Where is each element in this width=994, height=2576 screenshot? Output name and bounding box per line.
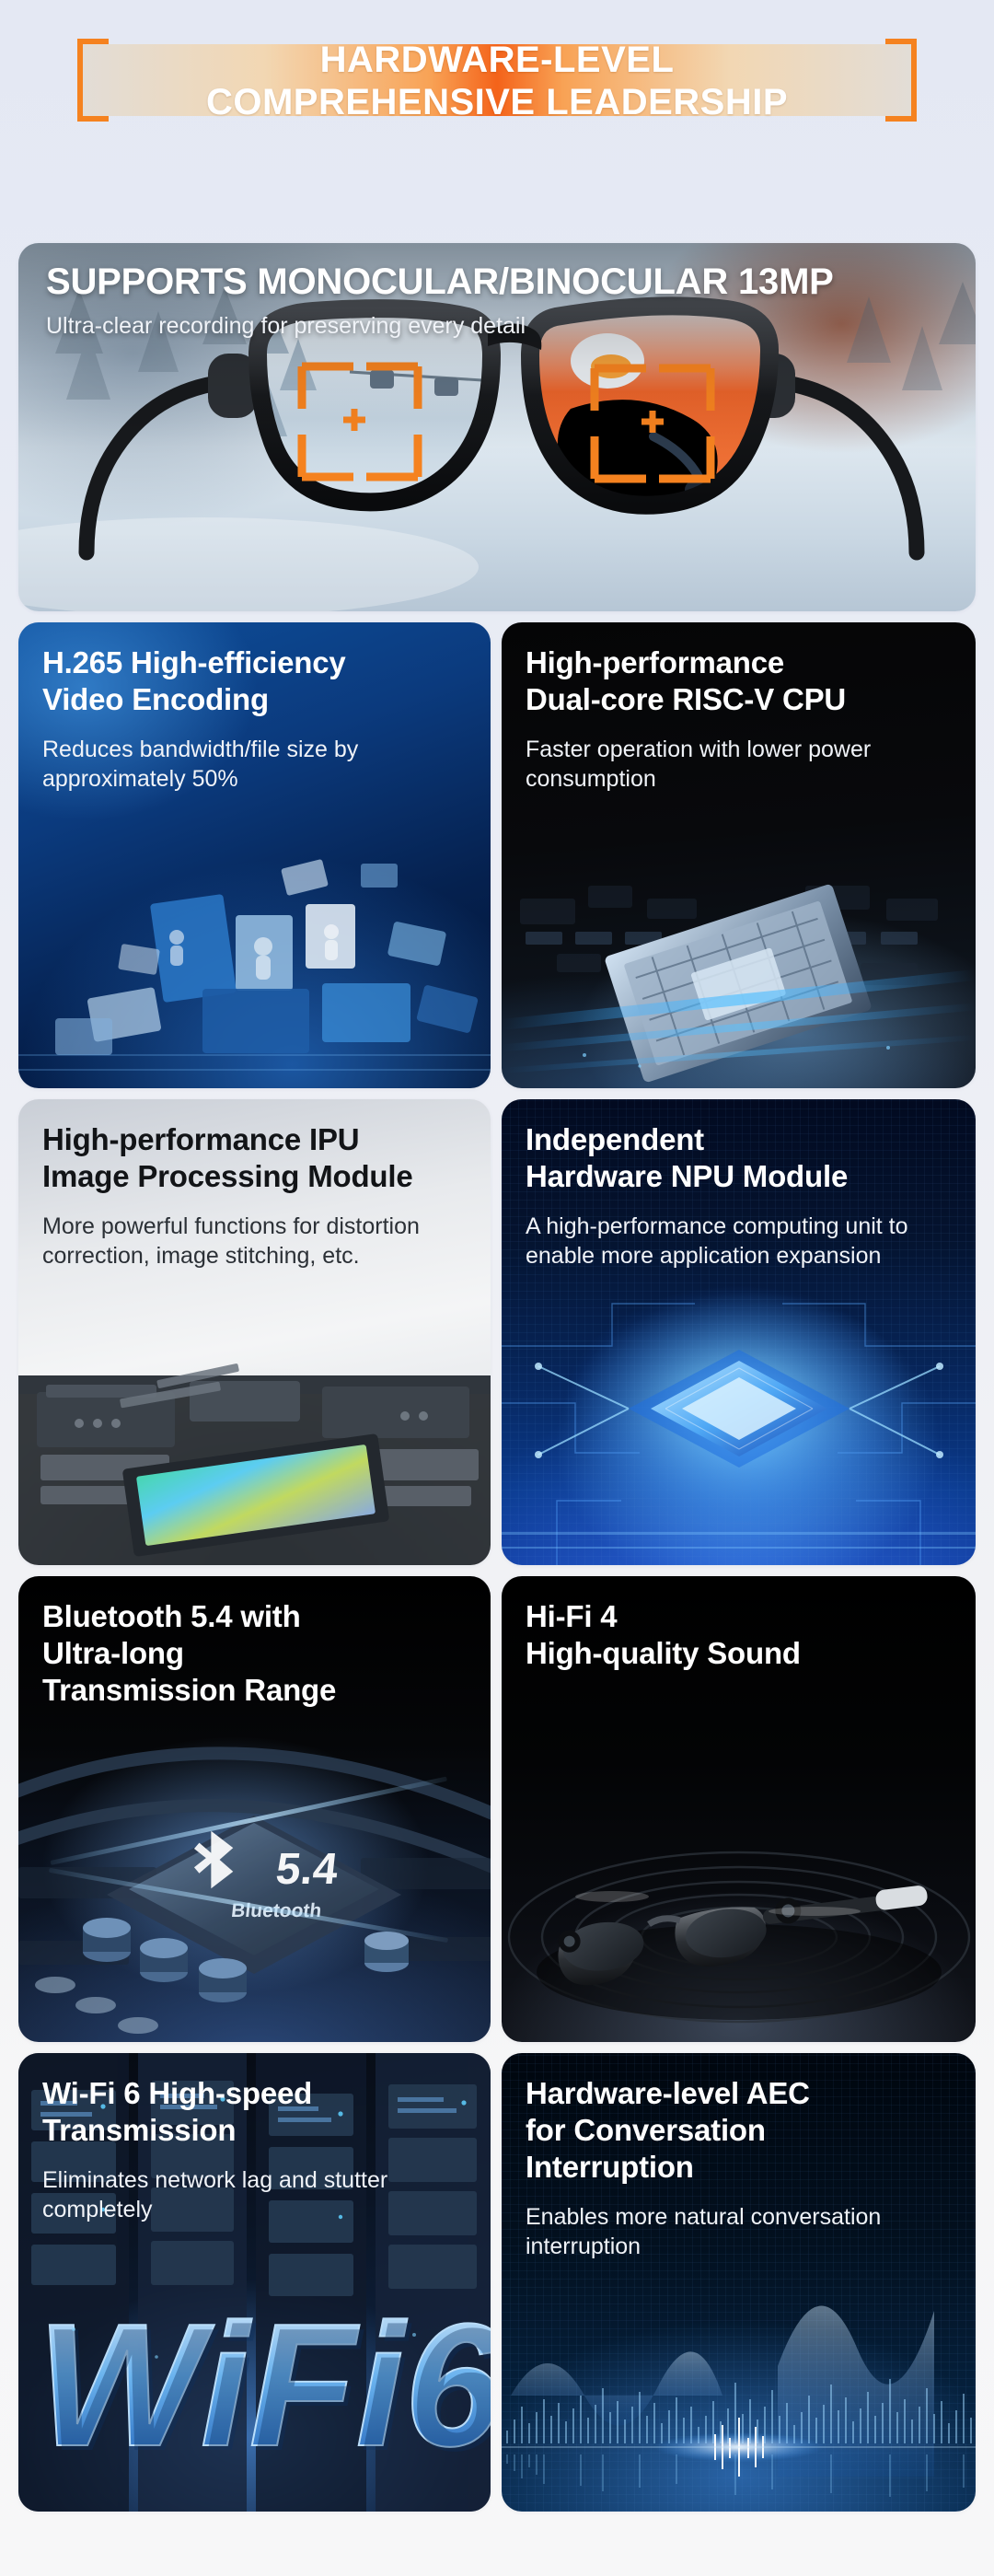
cpu-title: High-performance Dual-core RISC-V CPU <box>526 644 952 718</box>
feature-card-wifi[interactable]: WiFi6 WiFi6 Wi-Fi 6 High-speed Transmiss… <box>18 2053 491 2512</box>
aec-title-line-2: for Conversation <box>526 2113 766 2147</box>
h265-copy: H.265 High-efficiency Video Encoding Red… <box>18 622 491 794</box>
cpu-title-line-2: Dual-core RISC-V CPU <box>526 682 846 716</box>
feature-card-aec[interactable]: Hardware-level AEC for Conversation Inte… <box>502 2053 976 2512</box>
hero-subtitle: Ultra-clear recording for preserving eve… <box>46 311 948 341</box>
feature-card-cpu[interactable]: High-performance Dual-core RISC-V CPU Fa… <box>502 622 976 1088</box>
npu-title-line-1: Independent <box>526 1122 704 1156</box>
bluetooth-title: Bluetooth 5.4 with Ultra-long Transmissi… <box>42 1598 467 1709</box>
ipu-title: High-performance IPU Image Processing Mo… <box>42 1121 467 1195</box>
feature-card-hero[interactable]: SUPPORTS MONOCULAR/BINOCULAR 13MP Ultra-… <box>18 243 976 611</box>
hero-title: SUPPORTS MONOCULAR/BINOCULAR 13MP <box>46 260 948 304</box>
wifi-subtitle: Eliminates network lag and stutter compl… <box>42 2165 467 2224</box>
npu-copy: Independent Hardware NPU Module A high-p… <box>502 1099 976 1271</box>
wifi-title-line-1: Wi-Fi 6 High-speed <box>42 2076 312 2110</box>
ipu-title-line-1: High-performance IPU <box>42 1122 359 1156</box>
wifi-title: Wi-Fi 6 High-speed Transmission <box>42 2075 467 2149</box>
ipu-title-line-2: Image Processing Module <box>42 1159 413 1193</box>
hifi-copy: Hi-Fi 4 High-quality Sound <box>502 1576 976 1672</box>
cpu-title-line-1: High-performance <box>526 645 784 679</box>
svg-text:5.4: 5.4 <box>273 1844 341 1894</box>
feature-card-ipu[interactable]: High-performance IPU Image Processing Mo… <box>18 1099 491 1565</box>
h265-title-line-1: H.265 High-efficiency <box>42 645 346 679</box>
aec-title-line-3: Interruption <box>526 2150 694 2184</box>
feature-card-npu[interactable]: Independent Hardware NPU Module A high-p… <box>502 1099 976 1565</box>
aec-copy: Hardware-level AEC for Conversation Inte… <box>502 2053 976 2261</box>
wifi-copy: Wi-Fi 6 High-speed Transmission Eliminat… <box>18 2053 491 2224</box>
aec-title: Hardware-level AEC for Conversation Inte… <box>526 2075 952 2186</box>
feature-card-hifi[interactable]: Hi-Fi 4 High-quality Sound <box>502 1576 976 2042</box>
npu-title-line-2: Hardware NPU Module <box>526 1159 848 1193</box>
aec-subtitle: Enables more natural conversation interr… <box>526 2202 952 2261</box>
cpu-copy: High-performance Dual-core RISC-V CPU Fa… <box>502 622 976 794</box>
npu-subtitle: A high-performance computing unit to ena… <box>526 1212 952 1271</box>
h265-title: H.265 High-efficiency Video Encoding <box>42 644 467 718</box>
bluetooth-title-line-1: Bluetooth 5.4 with <box>42 1599 301 1633</box>
bluetooth-copy: Bluetooth 5.4 with Ultra-long Transmissi… <box>18 1576 491 1709</box>
h265-subtitle: Reduces bandwidth/file size by approxima… <box>42 735 467 794</box>
page-header: HARDWARE-LEVEL COMPREHENSIVE LEADERSHIP <box>0 0 994 129</box>
hifi-title-line-2: High-quality Sound <box>526 1636 801 1670</box>
bluetooth-title-line-3: Transmission Range <box>42 1673 336 1707</box>
hero-copy: SUPPORTS MONOCULAR/BINOCULAR 13MP Ultra-… <box>18 243 976 341</box>
page-title-line-2: COMPREHENSIVE LEADERSHIP <box>0 81 994 123</box>
bluetooth-title-line-2: Ultra-long <box>42 1636 184 1670</box>
ipu-subtitle: More powerful functions for distortion c… <box>42 1212 467 1271</box>
feature-card-bluetooth[interactable]: 5.4 Bluetooth <box>18 1576 491 2042</box>
feature-card-h265[interactable]: H.265 High-efficiency Video Encoding Red… <box>18 622 491 1088</box>
page-title: HARDWARE-LEVEL COMPREHENSIVE LEADERSHIP <box>0 39 994 123</box>
svg-text:WiFi6: WiFi6 <box>41 2292 491 2488</box>
cpu-subtitle: Faster operation with lower power consum… <box>526 735 952 794</box>
wifi-title-line-2: Transmission <box>42 2113 236 2147</box>
page-title-line-1: HARDWARE-LEVEL <box>0 39 994 81</box>
hifi-title: Hi-Fi 4 High-quality Sound <box>526 1598 952 1672</box>
ipu-copy: High-performance IPU Image Processing Mo… <box>18 1099 491 1271</box>
h265-title-line-2: Video Encoding <box>42 682 269 716</box>
npu-title: Independent Hardware NPU Module <box>526 1121 952 1195</box>
hifi-title-line-1: Hi-Fi 4 <box>526 1599 617 1633</box>
aec-title-line-1: Hardware-level AEC <box>526 2076 810 2110</box>
